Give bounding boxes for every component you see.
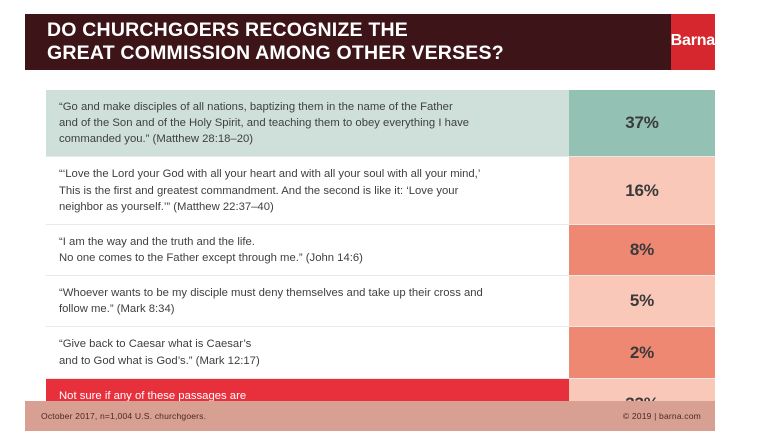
table-row: “Give back to Caesar what is Caesar’s an… <box>46 327 715 378</box>
verse-line: “Go and make disciples of all nations, b… <box>59 99 557 115</box>
verse-line: “‘Love the Lord your God with all your h… <box>59 166 557 182</box>
verse-line: neighbor as yourself.’” (Matthew 22:37–4… <box>59 199 557 215</box>
percentage-cell: 2% <box>569 327 715 377</box>
verse-line: and to God what is God’s.” (Mark 12:17) <box>59 353 557 369</box>
table-row: “Whoever wants to be my disciple must de… <box>46 276 715 327</box>
percentage-cell: 37% <box>569 90 715 156</box>
copyright-note: © 2019 | barna.com <box>623 411 701 421</box>
barna-logo: Barna <box>671 14 715 70</box>
verse-line: “Whoever wants to be my disciple must de… <box>59 285 557 301</box>
survey-source-note: October 2017, n=1,004 U.S. churchgoers. <box>41 411 206 421</box>
verse-text-cell: “Go and make disciples of all nations, b… <box>46 90 569 156</box>
verse-line: No one comes to the Father except throug… <box>59 250 557 266</box>
percentage-cell: 16% <box>569 157 715 223</box>
table-row: “‘Love the Lord your God with all your h… <box>46 157 715 224</box>
verse-text-cell: “I am the way and the truth and the life… <box>46 225 569 275</box>
barna-logo-text: Barna <box>671 32 715 50</box>
verse-results-table: “Go and make disciples of all nations, b… <box>46 90 715 430</box>
verse-text-cell: “Whoever wants to be my disciple must de… <box>46 276 569 326</box>
infographic-canvas: DO CHURCHGOERS RECOGNIZE THE GREAT COMMI… <box>0 0 760 441</box>
page-title-line-2: GREAT COMMISSION AMONG OTHER VERSES? <box>47 42 671 65</box>
header-bar: DO CHURCHGOERS RECOGNIZE THE GREAT COMMI… <box>25 14 715 70</box>
table-row: “I am the way and the truth and the life… <box>46 225 715 276</box>
verse-line: This is the first and greatest commandme… <box>59 183 557 199</box>
page-title: DO CHURCHGOERS RECOGNIZE THE GREAT COMMI… <box>25 14 671 70</box>
verse-text-cell: “‘Love the Lord your God with all your h… <box>46 157 569 223</box>
percentage-cell: 8% <box>569 225 715 275</box>
footer-bar: October 2017, n=1,004 U.S. churchgoers. … <box>25 401 715 431</box>
verse-line: commanded you.” (Matthew 28:18–20) <box>59 131 557 147</box>
verse-line: “I am the way and the truth and the life… <box>59 234 557 250</box>
verse-line: follow me.” (Mark 8:34) <box>59 301 557 317</box>
verse-line: “Give back to Caesar what is Caesar’s <box>59 336 557 352</box>
table-row: “Go and make disciples of all nations, b… <box>46 90 715 157</box>
verse-text-cell: “Give back to Caesar what is Caesar’s an… <box>46 327 569 377</box>
verse-line: and of the Son and of the Holy Spirit, a… <box>59 115 557 131</box>
page-title-line-1: DO CHURCHGOERS RECOGNIZE THE <box>47 19 671 42</box>
percentage-cell: 5% <box>569 276 715 326</box>
